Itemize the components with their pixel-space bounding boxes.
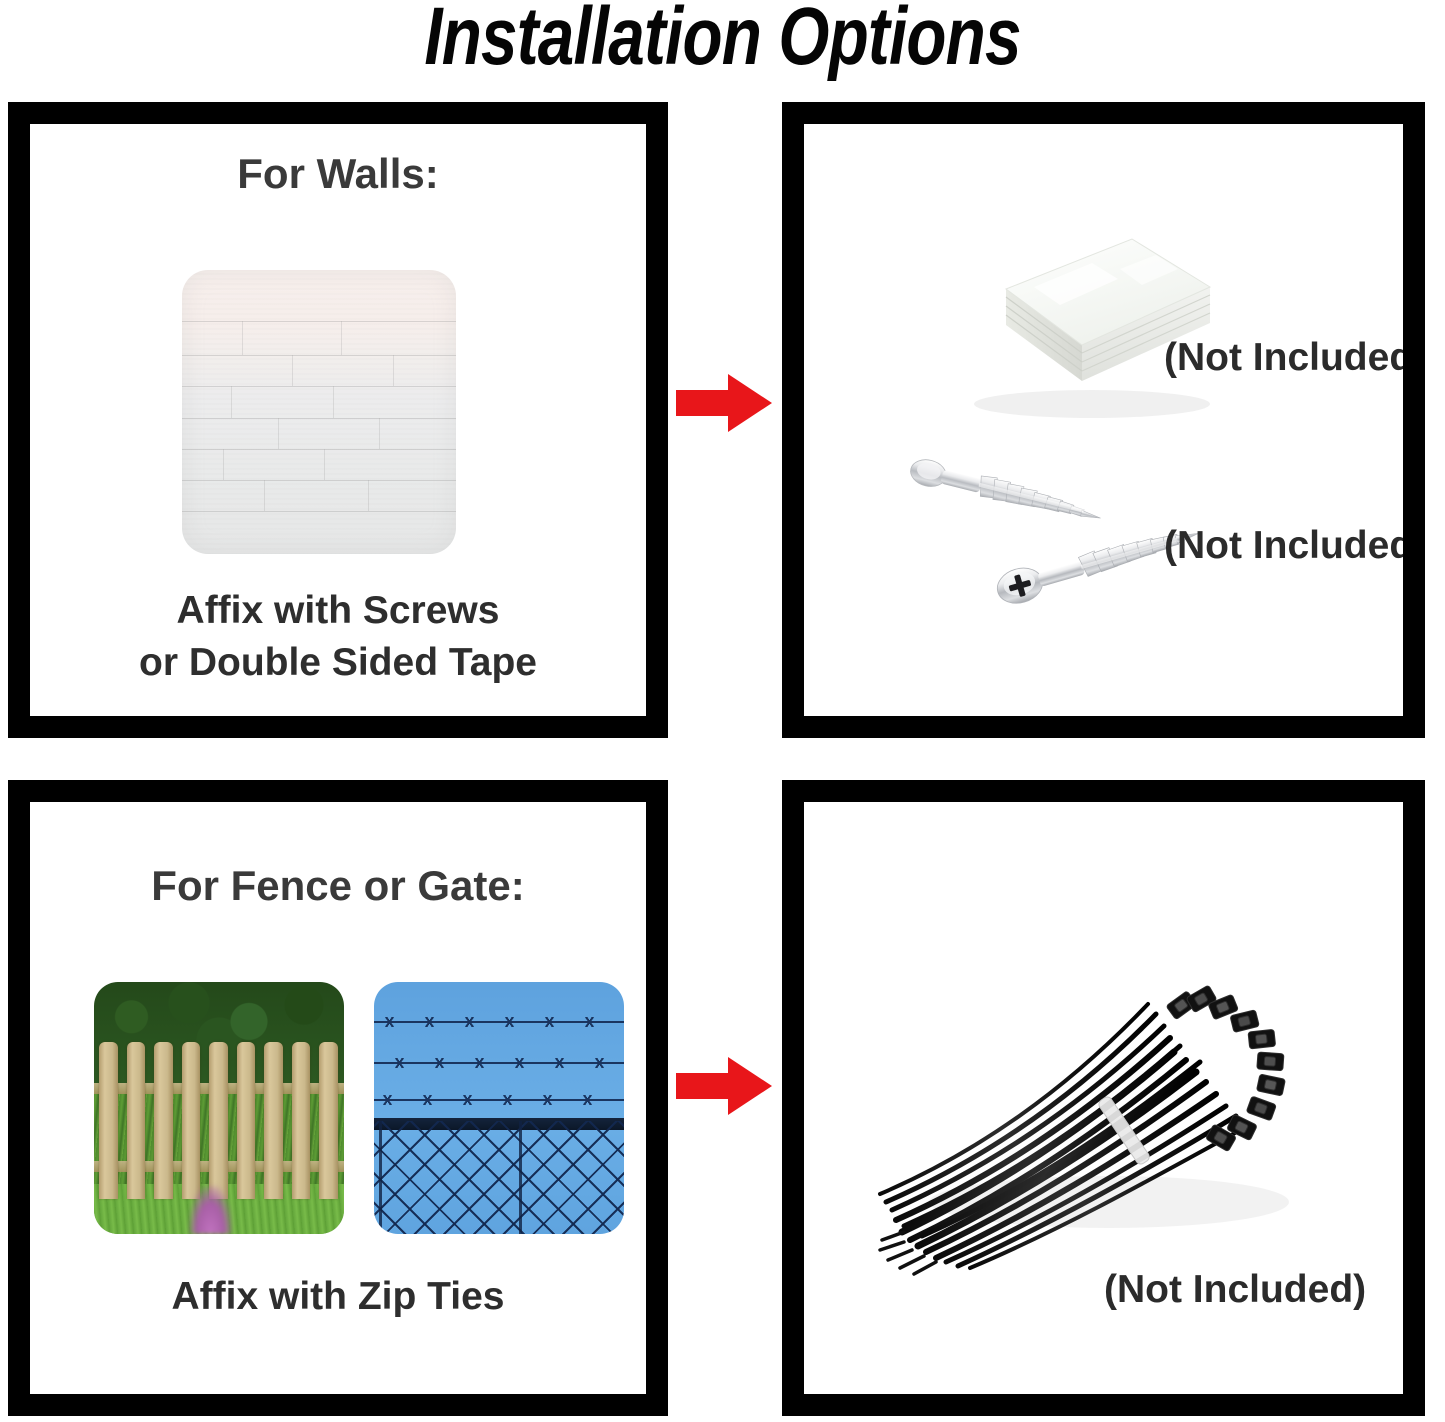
for-walls-caption-line-2: or Double Sided Tape (30, 637, 646, 688)
panel-for-walls: For Walls: Affix with Screws or (8, 102, 668, 738)
for-walls-caption: Affix with Screws or Double Sided Tape (30, 585, 646, 688)
page-title: Installation Options (145, 0, 1301, 80)
black-zip-ties-bundle (874, 902, 1344, 1282)
tape-not-included-label: (Not Included) (1164, 336, 1403, 380)
right-arrow-icon (676, 1055, 772, 1117)
for-walls-caption-line-1: Affix with Screws (30, 585, 646, 636)
zip-ties-not-included-label: (Not Included) (1104, 1268, 1366, 1312)
panel-for-fence-or-gate-content: For Fence or Gate: (30, 802, 646, 1394)
double-sided-tape-stack (942, 229, 1228, 425)
panel-for-walls-content: For Walls: Affix with Screws or (30, 124, 646, 716)
right-arrow-icon (676, 372, 772, 434)
panel-fence-hardware-content: (Not Included) (804, 802, 1403, 1394)
panel-fence-hardware: (Not Included) (782, 780, 1425, 1416)
for-fence-or-gate-heading: For Fence or Gate: (30, 862, 646, 910)
white-brick-wall-swatch (182, 270, 456, 554)
chain-link-barbed-wire-fence-photo (374, 982, 624, 1234)
panel-wall-hardware: (Not Included) (782, 102, 1425, 738)
panel-wall-hardware-content: (Not Included) (804, 124, 1403, 716)
wooden-picket-fence-photo (94, 982, 344, 1234)
screw-not-included-label: (Not Included) (1164, 524, 1403, 568)
for-walls-heading: For Walls: (30, 150, 646, 198)
panel-for-fence-or-gate: For Fence or Gate: (8, 780, 668, 1416)
for-fence-or-gate-caption: Affix with Zip Ties (30, 1271, 646, 1322)
